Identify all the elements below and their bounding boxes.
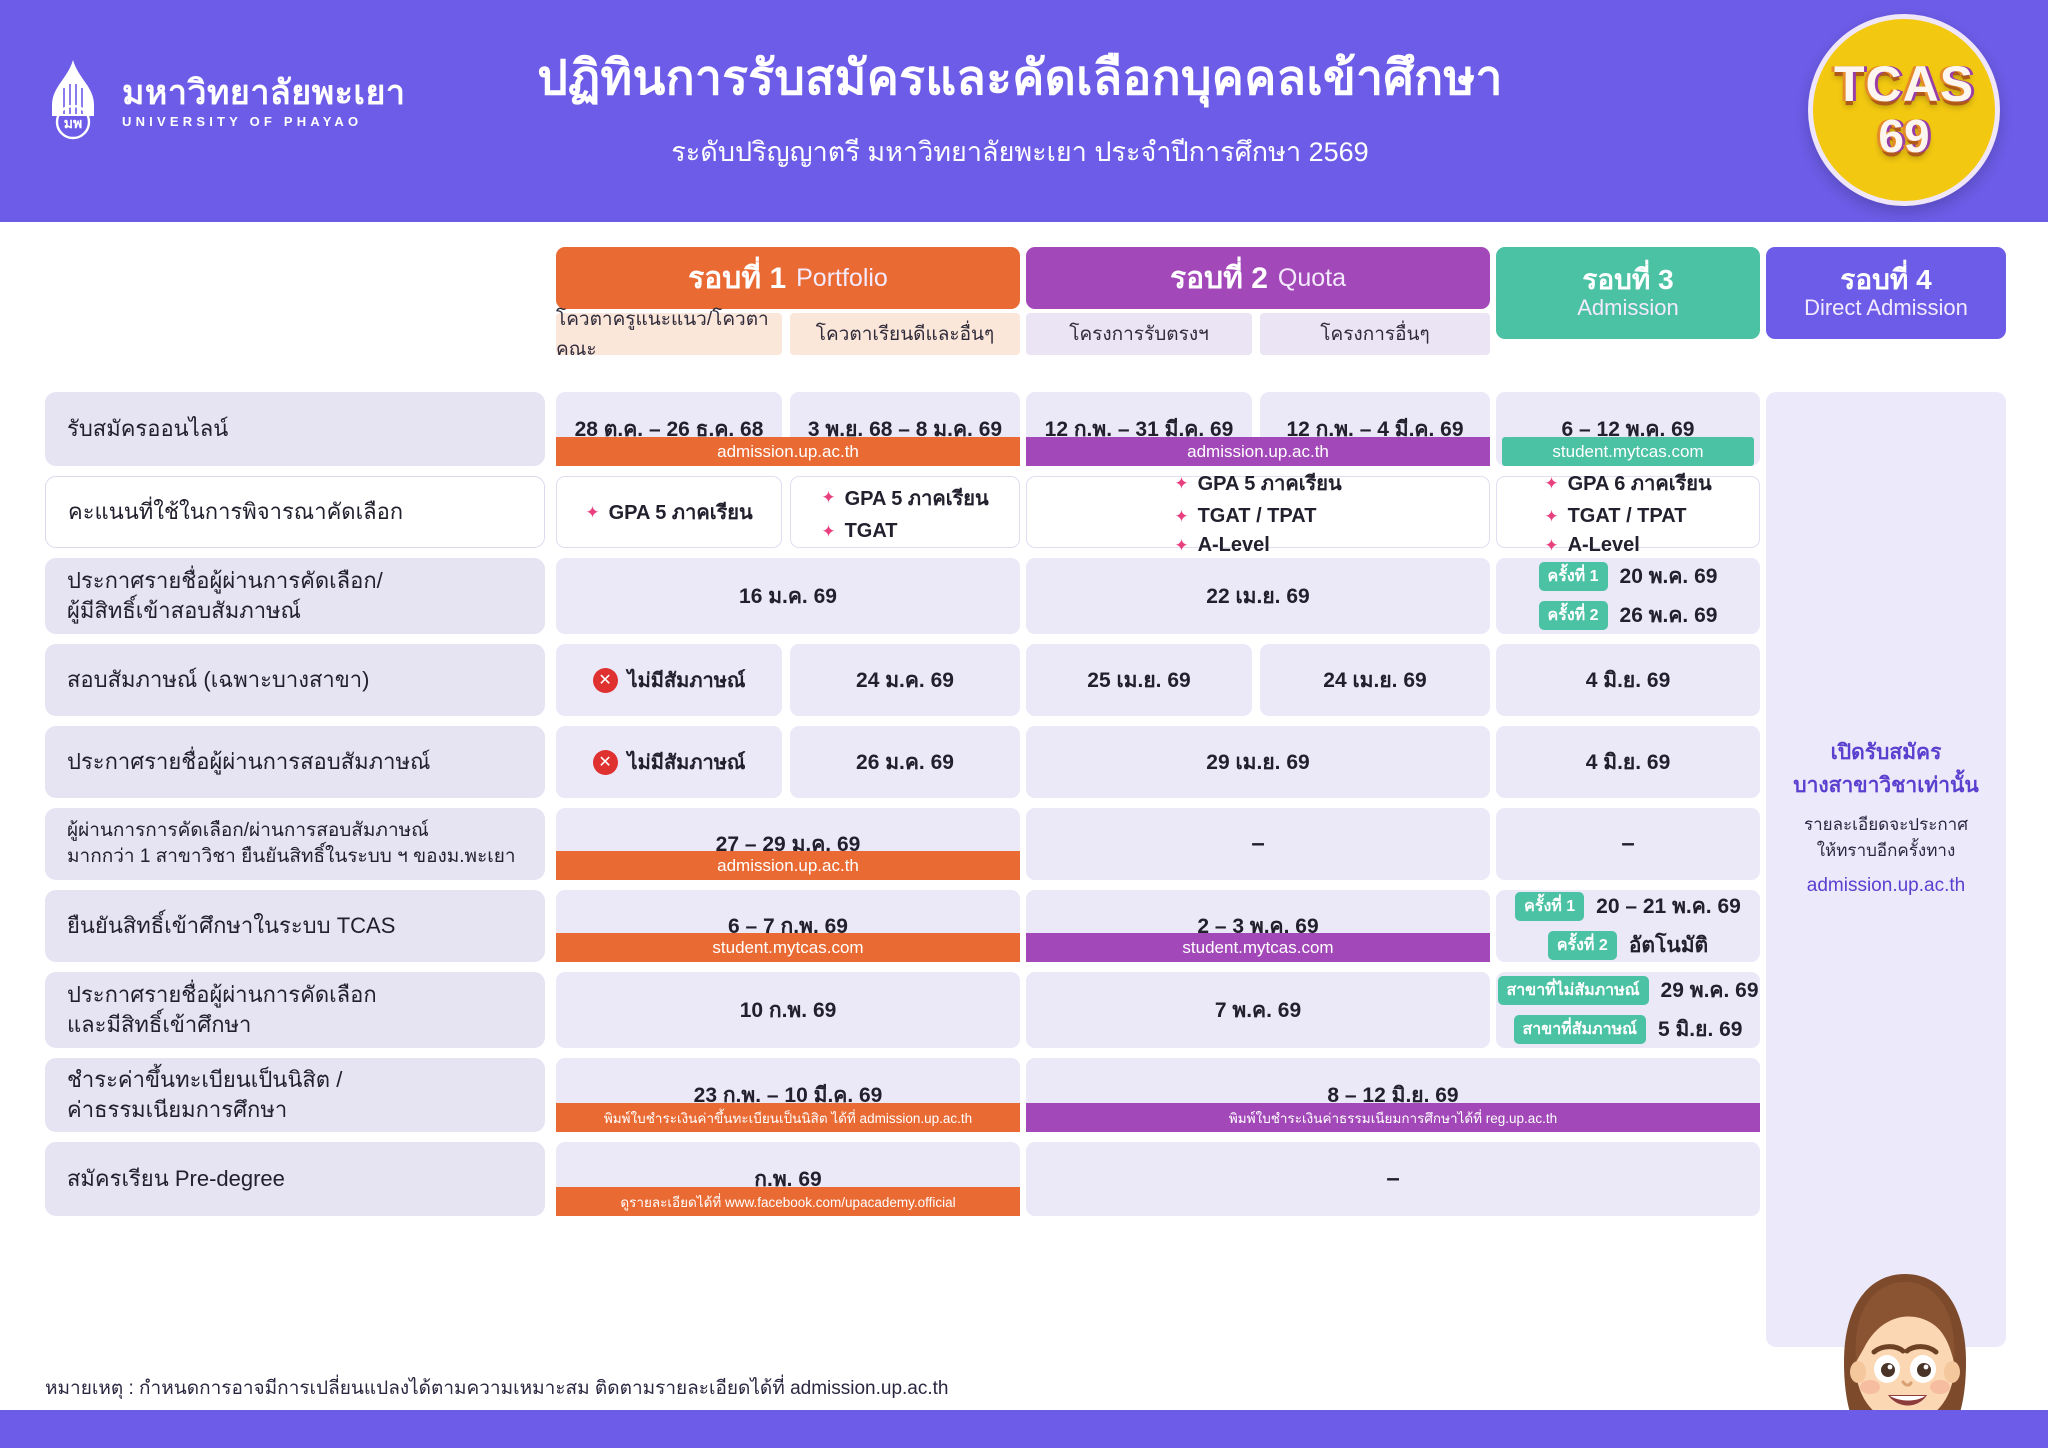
round-tag: ครั้งที่ 1 [1515,892,1584,921]
cell-r3-interview: 4 มิ.ย. 69 [1496,644,1760,716]
cell-r2-announce-selected: 22 เม.ย. 69 [1026,558,1490,634]
bullet-diamond-icon: ✦ [821,489,835,506]
cell-date: 24 ม.ค. 69 [856,660,954,701]
subcolumn-2a: โครงการรับตรงฯ [1026,313,1252,355]
subcolumn-1b: โควตาเรียนดีและอื่นๆ [790,313,1020,355]
round-4-en: Direct Admission [1804,295,1968,321]
cell-r3-announce-final: สาขาที่ไม่สัมภาษณ์ 29 พ.ค. 69 สาขาที่สัม… [1496,972,1760,1048]
table-row-confirm-tcas: ยืนยันสิทธิ์เข้าศึกษาในระบบ TCAS 6 – 7 ก… [0,890,2048,962]
cell-date: อัตโนมัติ [1629,929,1708,962]
cell-date: 16 ม.ค. 69 [739,576,837,617]
table-row-predegree: สมัครเรียน Pre-degree ก.พ. 69 ดูรายละเอี… [0,1142,2048,1216]
cell-date: 20 – 21 พ.ค. 69 [1596,890,1741,923]
cell-r1b-announce-interview: 26 ม.ค. 69 [790,726,1020,798]
cell-date: 4 มิ.ย. 69 [1586,742,1671,783]
tagged-date-row: ครั้งที่ 2 อัตโนมัติ [1548,926,1708,965]
url-band-round1-apply[interactable]: admission.up.ac.th [556,437,1020,466]
row-label-interview: สอบสัมภาษณ์ (เฉพาะบางสาขา) [45,644,545,716]
url-band-round1-multi[interactable]: admission.up.ac.th [556,851,1020,880]
cell-r1-announce-final: 10 ก.พ. 69 [556,972,1020,1048]
row-label-text: รับสมัครออนไลน์ [67,414,523,444]
cell-date: 22 เม.ย. 69 [1206,576,1309,617]
cell-date: 25 เม.ย. 69 [1087,660,1190,701]
footer-bar [0,1410,2048,1448]
bullet-diamond-icon: ✦ [821,523,835,540]
round-tag: ครั้งที่ 2 [1548,931,1617,960]
cell-r1b-interview: 24 ม.ค. 69 [790,644,1020,716]
cell-r2-announce-final: 7 พ.ค. 69 [1026,972,1490,1048]
row-label-announce-interview: ประกาศรายชื่อผู้ผ่านการสอบสัมภาษณ์ [45,726,545,798]
subcolumn-2b: โครงการอื่นๆ [1260,313,1490,355]
score-label: GPA 5 ภาคเรียน [609,496,753,528]
infographic-page: มพ มหาวิทยาลัยพะเยา UNIVERSITY OF PHAYAO… [0,0,2048,1448]
row-label-confirm-tcas: ยืนยันสิทธิ์เข้าศึกษาในระบบ TCAS [45,890,545,962]
cell-r1b-scores: ✦GPA 5 ภาคเรียน ✦TGAT [790,476,1020,548]
score-item: ✦A-Level [1174,534,1270,557]
score-label: A-Level [1198,534,1270,557]
round-2-th: รอบที่ 2 [1170,255,1268,302]
cell-date: 10 ก.พ. 69 [740,990,837,1031]
footnote-line-1: หมายเหตุ : กำหนดการอาจมีการเปลี่ยนแปลงได… [45,1372,1345,1405]
bullet-diamond-icon: ✦ [1174,537,1188,554]
title-block: ปฏิทินการรับสมัครและคัดเลือกบุคคลเข้าศึก… [330,40,1710,173]
cell-dash: – [1386,1165,1399,1193]
score-list: ✦GPA 5 ภาคเรียน ✦TGAT / TPAT ✦A-Level [1174,467,1341,557]
score-item: ✦A-Level [1544,534,1640,557]
cell-dash: – [1621,830,1634,858]
calendar-board: รอบที่ 1 Portfolio รอบที่ 2 Quota รอบที่… [0,222,2048,1410]
cell-date: 4 มิ.ย. 69 [1586,660,1671,701]
cell-date: 26 พ.ค. 69 [1620,599,1718,632]
row-label-multi-major: ผู้ผ่านการการคัดเลือก/ผ่านการสอบสัมภาษณ์… [45,808,545,880]
cell-r3-scores: ✦GPA 6 ภาคเรียน ✦TGAT / TPAT ✦A-Level [1496,476,1760,548]
page-subtitle: ระดับปริญญาตรี มหาวิทยาลัยพะเยา ประจำปีก… [330,130,1710,173]
row-label-text: คะแนนที่ใช้ในการพิจารณาคัดเลือก [68,497,522,527]
tagged-date-row: สาขาที่ไม่สัมภาษณ์ 29 พ.ค. 69 [1498,971,1759,1010]
bullet-diamond-icon: ✦ [1174,475,1188,492]
cell-r1a-interview: ✕ ไม่มีสัมภาษณ์ [556,644,782,716]
table-row-apply-online: รับสมัครออนไลน์ 28 ต.ค. – 26 ธ.ค. 68 3 พ… [0,392,2048,466]
cell-r2-announce-interview: 29 เม.ย. 69 [1026,726,1490,798]
cell-date: 29 พ.ค. 69 [1661,974,1759,1007]
round-1-en: Portfolio [796,264,888,293]
row-label-text: สมัครเรียน Pre-degree [67,1164,523,1194]
row-label-text: ยืนยันสิทธิ์เข้าศึกษาในระบบ TCAS [67,911,523,941]
cell-dash: – [1251,830,1264,858]
bullet-diamond-icon: ✦ [1544,508,1558,525]
row-label-line2: และมีสิทธิ์เข้าศึกษา [67,1010,523,1040]
bullet-diamond-icon: ✦ [1544,475,1558,492]
row-label-line2: ค่าธรรมเนียมการศึกษา [67,1095,523,1125]
cell-r2a-interview: 25 เม.ย. 69 [1026,644,1252,716]
row-label-line1: ประกาศรายชื่อผู้ผ่านการคัดเลือก [67,980,523,1010]
cell-r3-multi-major: – [1496,808,1760,880]
row-label-payment: ชำระค่าขึ้นทะเบียนเป็นนิสิต / ค่าธรรมเนี… [45,1058,545,1132]
bullet-diamond-icon: ✦ [1174,508,1188,525]
url-band-round1-confirm[interactable]: student.mytcas.com [556,933,1020,962]
no-interview-icon: ✕ [593,750,618,775]
score-list: ✦GPA 5 ภาคเรียน ✦TGAT [821,482,988,543]
no-interview-label: ไม่มีสัมภาษณ์ [628,664,746,696]
url-band-round2-payment[interactable]: พิมพ์ใบชำระเงินค่าธรรมเนียมการศึกษาได้ที… [1026,1103,1760,1132]
tagged-date-row: ครั้งที่ 2 26 พ.ค. 69 [1539,596,1718,635]
round-tag: สาขาที่สัมภาษณ์ [1514,1015,1646,1044]
score-list: ✦GPA 5 ภาคเรียน [585,496,752,528]
cell-date: 20 พ.ค. 69 [1620,560,1718,593]
score-item: ✦GPA 6 ภาคเรียน [1544,467,1711,499]
cell-date: 7 พ.ค. 69 [1215,990,1301,1031]
table-row-announce-interview: ประกาศรายชื่อผู้ผ่านการสอบสัมภาษณ์ ✕ ไม่… [0,726,2048,798]
cell-r1a-scores: ✦GPA 5 ภาคเรียน [556,476,782,548]
page-header: มพ มหาวิทยาลัยพะเยา UNIVERSITY OF PHAYAO… [0,0,2048,222]
cell-r1-announce-selected: 16 ม.ค. 69 [556,558,1020,634]
row-label-announce-final: ประกาศรายชื่อผู้ผ่านการคัดเลือก และมีสิท… [45,972,545,1048]
cell-r3-confirm-tcas: ครั้งที่ 1 20 – 21 พ.ค. 69 ครั้งที่ 2 อั… [1496,890,1760,962]
round-tag: ครั้งที่ 1 [1539,562,1608,591]
column-headers: รอบที่ 1 Portfolio รอบที่ 2 Quota รอบที่… [0,247,2048,367]
svg-text:มพ: มพ [64,115,82,131]
score-label: TGAT / TPAT [1198,505,1317,528]
round-2-en: Quota [1278,264,1346,293]
round-header-2: รอบที่ 2 Quota [1026,247,1490,309]
bullet-diamond-icon: ✦ [1544,537,1558,554]
row-label-line2: ผู้มีสิทธิ์เข้าสอบสัมภาษณ์ [67,596,523,626]
page-title: ปฏิทินการรับสมัครและคัดเลือกบุคคลเข้าศึก… [330,40,1710,116]
round-1-th: รอบที่ 1 [688,255,786,302]
up-logo-icon: มพ [40,58,106,146]
round-3-th: รอบที่ 3 [1582,265,1673,294]
round-tag: สาขาที่ไม่สัมภาษณ์ [1498,976,1649,1005]
round-4-th: รอบที่ 4 [1840,265,1931,294]
tcas-badge: TCAS 69 [1808,14,2000,206]
round-header-3: รอบที่ 3 Admission [1496,247,1760,339]
row-label-line1: ประกาศรายชื่อผู้ผ่านการคัดเลือก/ [67,566,523,596]
row-label-text: ประกาศรายชื่อผู้ผ่านการสอบสัมภาษณ์ [67,747,523,777]
url-band-round2-apply[interactable]: admission.up.ac.th [1026,437,1490,466]
url-band-round2-confirm[interactable]: student.mytcas.com [1026,933,1490,962]
score-label: TGAT / TPAT [1568,505,1687,528]
score-label: GPA 6 ภาคเรียน [1568,467,1712,499]
cell-r1a-announce-interview: ✕ ไม่มีสัมภาษณ์ [556,726,782,798]
score-item: ✦TGAT / TPAT [1544,505,1686,528]
score-label: GPA 5 ภาคเรียน [845,482,989,514]
score-label: A-Level [1568,534,1640,557]
row-label-predegree: สมัครเรียน Pre-degree [45,1142,545,1216]
no-interview-icon: ✕ [593,668,618,693]
table-row-payment: ชำระค่าขึ้นทะเบียนเป็นนิสิต / ค่าธรรมเนี… [0,1058,2048,1132]
score-item: ✦TGAT / TPAT [1174,505,1316,528]
score-item: ✦GPA 5 ภาคเรียน [1174,467,1341,499]
cell-date: 29 เม.ย. 69 [1206,742,1309,783]
score-item: ✦TGAT [821,520,897,543]
round-3-en: Admission [1577,295,1678,321]
no-interview-label: ไม่มีสัมภาษณ์ [628,746,746,778]
cell-r2-predegree: – [1026,1142,1760,1216]
cell-r3-announce-selected: ครั้งที่ 1 20 พ.ค. 69 ครั้งที่ 2 26 พ.ค.… [1496,558,1760,634]
round-header-4: รอบที่ 4 Direct Admission [1766,247,2006,339]
row-label-text: สอบสัมภาษณ์ (เฉพาะบางสาขา) [67,665,523,695]
table-row-scores: คะแนนที่ใช้ในการพิจารณาคัดเลือก ✦GPA 5 ภ… [0,476,2048,548]
row-label-apply-online: รับสมัครออนไลน์ [45,392,545,466]
score-list: ✦GPA 6 ภาคเรียน ✦TGAT / TPAT ✦A-Level [1544,467,1711,557]
round-header-1: รอบที่ 1 Portfolio [556,247,1020,309]
url-band-round3-apply[interactable]: student.mytcas.com [1502,437,1754,466]
tagged-date-row: สาขาที่สัมภาษณ์ 5 มิ.ย. 69 [1514,1010,1743,1049]
row-label-line1: ผู้ผ่านการการคัดเลือก/ผ่านการสอบสัมภาษณ์ [67,818,523,844]
cell-date: 26 ม.ค. 69 [856,742,954,783]
score-label: TGAT [845,520,898,543]
table-row-announce-final: ประกาศรายชื่อผู้ผ่านการคัดเลือก และมีสิท… [0,972,2048,1048]
score-label: GPA 5 ภาคเรียน [1198,467,1342,499]
url-band-round1-payment[interactable]: พิมพ์ใบชำระเงินค่าขึ้นทะเบียนเป็นนิสิต ไ… [556,1103,1020,1132]
cell-r2-scores: ✦GPA 5 ภาคเรียน ✦TGAT / TPAT ✦A-Level [1026,476,1490,548]
cell-r2-multi-major: – [1026,808,1490,880]
url-band-round1-predegree[interactable]: ดูรายละเอียดได้ที่ www.facebook.com/upac… [556,1187,1020,1216]
table-row-announce-selected: ประกาศรายชื่อผู้ผ่านการคัดเลือก/ ผู้มีสิ… [0,558,2048,634]
tagged-date-row: ครั้งที่ 1 20 – 21 พ.ค. 69 [1515,887,1741,926]
cell-date: 5 มิ.ย. 69 [1658,1013,1743,1046]
row-label-scores: คะแนนที่ใช้ในการพิจารณาคัดเลือก [45,476,545,548]
cell-r2b-interview: 24 เม.ย. 69 [1260,644,1490,716]
cell-r3-announce-interview: 4 มิ.ย. 69 [1496,726,1760,798]
round-tag: ครั้งที่ 2 [1539,601,1608,630]
bullet-diamond-icon: ✦ [585,504,599,521]
subcolumn-1a: โควตาครูแนะแนว/โควตาคณะ [556,313,782,355]
table-row-interview: สอบสัมภาษณ์ (เฉพาะบางสาขา) ✕ ไม่มีสัมภาษ… [0,644,2048,716]
row-label-announce-selected: ประกาศรายชื่อผู้ผ่านการคัดเลือก/ ผู้มีสิ… [45,558,545,634]
row-label-line1: ชำระค่าขึ้นทะเบียนเป็นนิสิต / [67,1065,523,1095]
score-item: ✦GPA 5 ภาคเรียน [585,496,752,528]
score-item: ✦GPA 5 ภาคเรียน [821,482,988,514]
no-interview-marker: ✕ ไม่มีสัมภาษณ์ [593,664,746,696]
no-interview-marker: ✕ ไม่มีสัมภาษณ์ [593,746,746,778]
row-label-line2: มากกว่า 1 สาขาวิชา ยืนยันสิทธิ์ในระบบ ฯ … [67,844,523,870]
tcas-badge-number: 69 [1878,113,1929,159]
tcas-badge-word: TCAS [1834,61,1974,109]
table-row-multi-major: ผู้ผ่านการการคัดเลือก/ผ่านการสอบสัมภาษณ์… [0,808,2048,880]
tagged-date-row: ครั้งที่ 1 20 พ.ค. 69 [1539,557,1718,596]
cell-date: 24 เม.ย. 69 [1323,660,1426,701]
